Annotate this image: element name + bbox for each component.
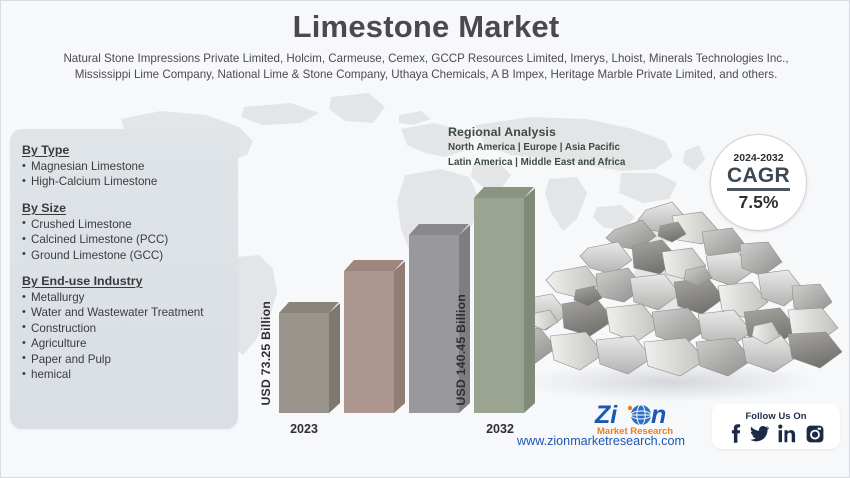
zion-market-research-logo[interactable]: Zi n Market Research [593,399,711,439]
company-list: Natural Stone Impressions Private Limite… [46,51,806,82]
cagr-badge: 2024-2032 CAGR 7.5% [710,134,807,231]
segment-item[interactable]: Magnesian Limestone [22,159,238,174]
limestone-rock-pile-image [496,186,850,421]
cagr-period: 2024-2032 [733,153,783,164]
instagram-icon[interactable] [806,425,824,443]
segment-heading: By Size [22,201,238,215]
page-title: Limestone Market [1,10,850,44]
segment-item[interactable]: Calcined Limestone (PCC) [22,232,238,247]
bar-front-face [279,313,329,413]
bar-value-label-2032: USD 140.45 Billion [454,294,468,406]
bar-3[interactable] [409,235,459,413]
spacer [10,190,238,201]
regional-list-line-2: Latin America | Middle East and Africa [448,156,625,169]
follow-us-label: Follow Us On [745,410,806,421]
segment-item[interactable]: Water and Wastewater Treatment [22,305,238,320]
segment-item[interactable]: hemical [22,367,238,382]
segment-item[interactable]: Paper and Pulp [22,352,238,367]
follow-us-panel: Follow Us On [712,404,840,449]
infographic-card: Limestone Market Natural Stone Impressio… [0,0,850,478]
spacer [10,263,238,274]
regional-analysis-title: Regional Analysis [448,125,625,139]
bar-2032[interactable] [474,198,524,413]
segment-item[interactable]: Agriculture [22,336,238,351]
twitter-icon[interactable] [750,424,769,443]
bar-side-face [394,261,405,413]
cagr-label: CAGR [727,165,790,191]
bar-front-face [409,235,459,413]
regional-list-line-1: North America | Europe | Asia Pacific [448,141,625,154]
linkedin-icon[interactable] [778,424,797,443]
segment-heading: By Type [22,143,238,157]
segment-heading: By End-use Industry [22,274,238,288]
bar-2023[interactable] [279,313,329,413]
segment-group-by-type: By Type Magnesian Limestone High-Calcium… [22,143,238,190]
bar-front-face [344,271,394,413]
segmentation-panel: By Type Magnesian Limestone High-Calcium… [10,129,238,429]
segment-item[interactable]: Crushed Limestone [22,217,238,232]
segment-group-by-size: By Size Crushed Limestone Calcined Limes… [22,201,238,263]
logo-wordmark: Zi [594,401,618,429]
logo-i-dot [628,406,632,410]
website-url[interactable]: www.zionmarketresearch.com [517,434,685,448]
bar-2[interactable] [344,271,394,413]
bar-year-label-2023: 2023 [275,422,333,436]
segment-item[interactable]: High-Calcium Limestone [22,174,238,189]
segment-item[interactable]: Construction [22,321,238,336]
social-icons-row [729,424,824,443]
segment-item[interactable]: Metallurgy [22,290,238,305]
market-size-bar-chart: USD 73.25 Billion 2023 USD 140.45 Billio… [251,191,526,446]
bar-side-face [329,303,340,413]
cagr-value: 7.5% [739,194,779,212]
segment-item[interactable]: Ground Limestone (GCC) [22,248,238,263]
logo-wordmark-tail: n [651,401,666,429]
bar-side-face [524,188,535,413]
segment-group-by-end-use-industry: By End-use Industry Metallurgy Water and… [22,274,238,382]
regional-analysis: Regional Analysis North America | Europe… [448,125,625,169]
facebook-icon[interactable] [729,424,741,443]
bar-front-face [474,198,524,413]
bar-value-label-2023: USD 73.25 Billion [259,301,273,406]
header: Limestone Market Natural Stone Impressio… [1,1,850,82]
